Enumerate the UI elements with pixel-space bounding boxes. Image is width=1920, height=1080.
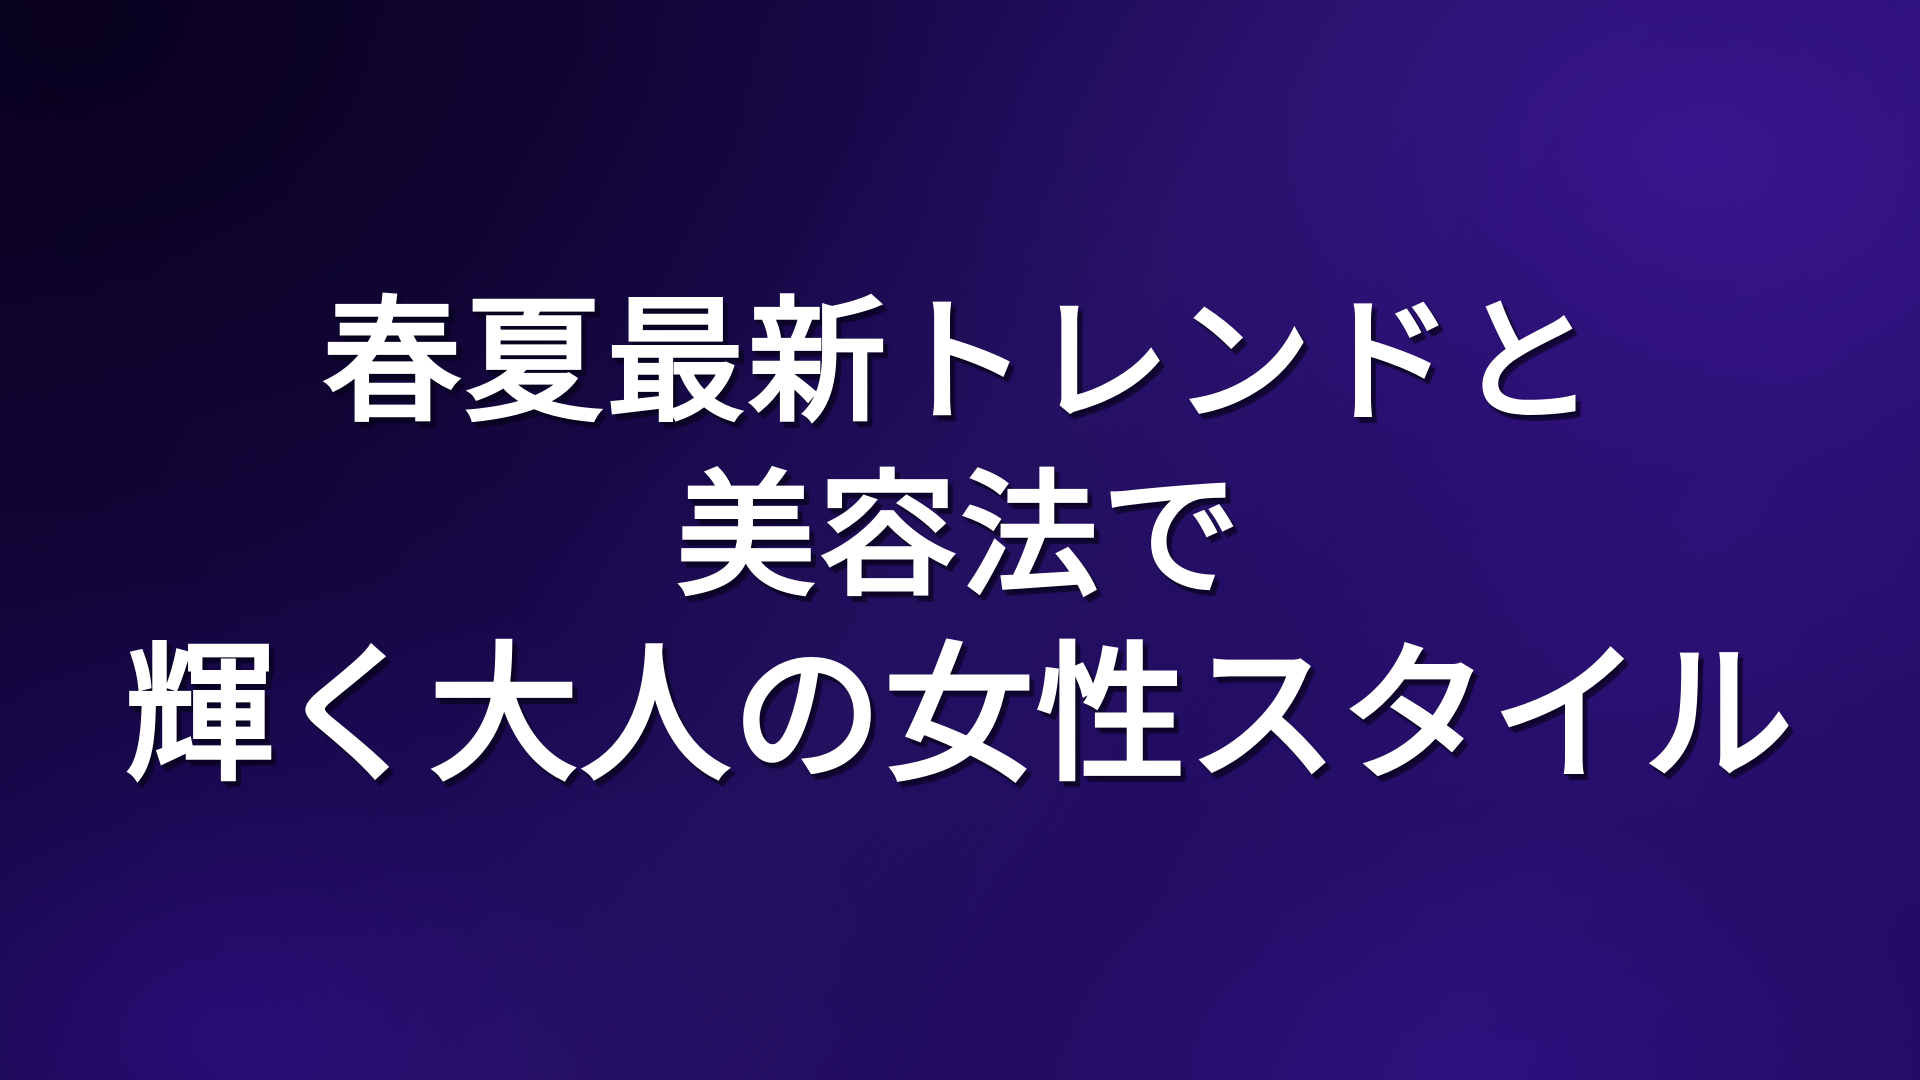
title-line-3: 輝く大人の女性スタイル [125, 641, 1795, 791]
page-title: 春夏最新トレンドと 美容法で 輝く大人の女性スタイル [0, 0, 1920, 1080]
title-line-1: 春夏最新トレンドと [322, 295, 1598, 431]
title-card: 春夏最新トレンドと 美容法で 輝く大人の女性スタイル [0, 0, 1920, 1080]
title-line-2: 美容法で [676, 469, 1243, 605]
